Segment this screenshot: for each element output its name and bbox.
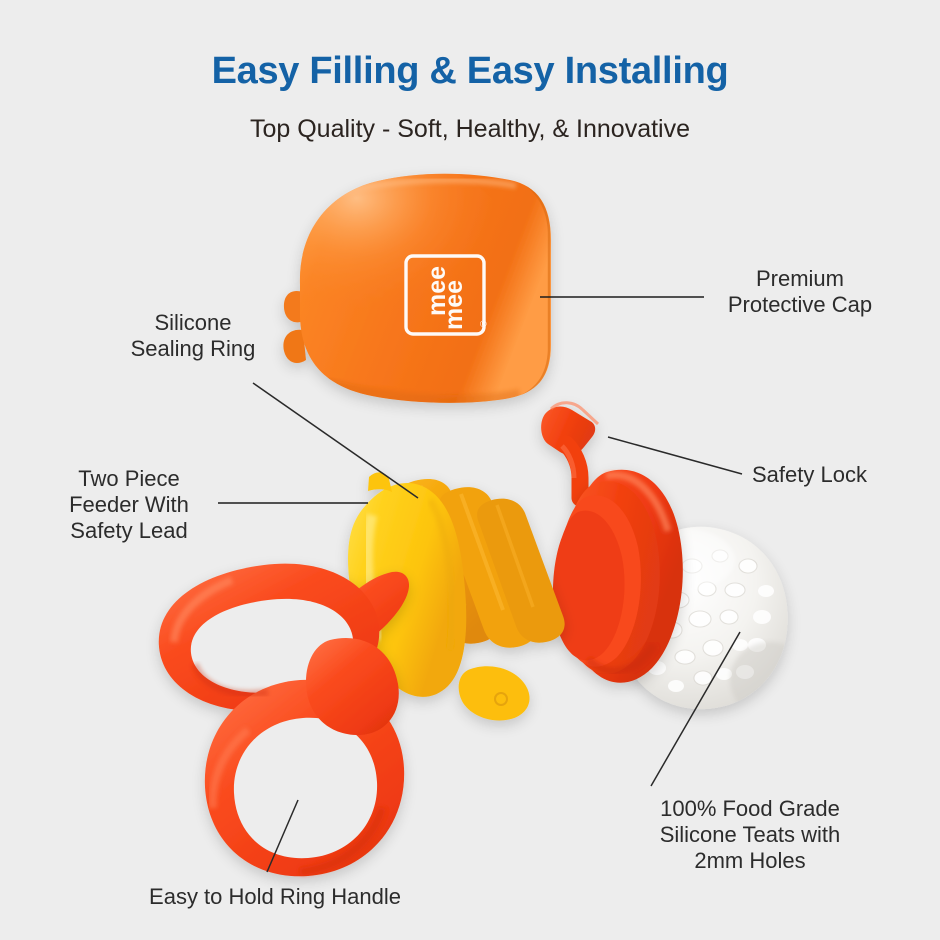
logo-text-line2: mee [440,280,468,330]
protective-cap-graphic: mee mee ® [275,160,562,403]
callout-safety-lock: Safety Lock [752,462,932,488]
callout-food-grade-teat: 100% Food Grade Silicone Teats with 2mm … [630,796,870,874]
callout-silicone-sealing-ring: Silicone Sealing Ring [98,310,288,362]
registered-trademark-icon: ® [480,319,487,329]
leader-line-sealing-ring [253,383,418,498]
leader-line-safety-lock [608,437,742,474]
ring-handle-graphic [159,564,409,877]
callout-ring-handle: Easy to Hold Ring Handle [110,884,440,910]
infographic-canvas: Easy Filling & Easy Installing Top Quali… [0,0,940,940]
safety-lock-graphic [541,403,598,498]
callout-two-piece-feeder: Two Piece Feeder With Safety Lead [40,466,218,544]
callout-premium-protective-cap: Premium Protective Cap [700,266,900,318]
